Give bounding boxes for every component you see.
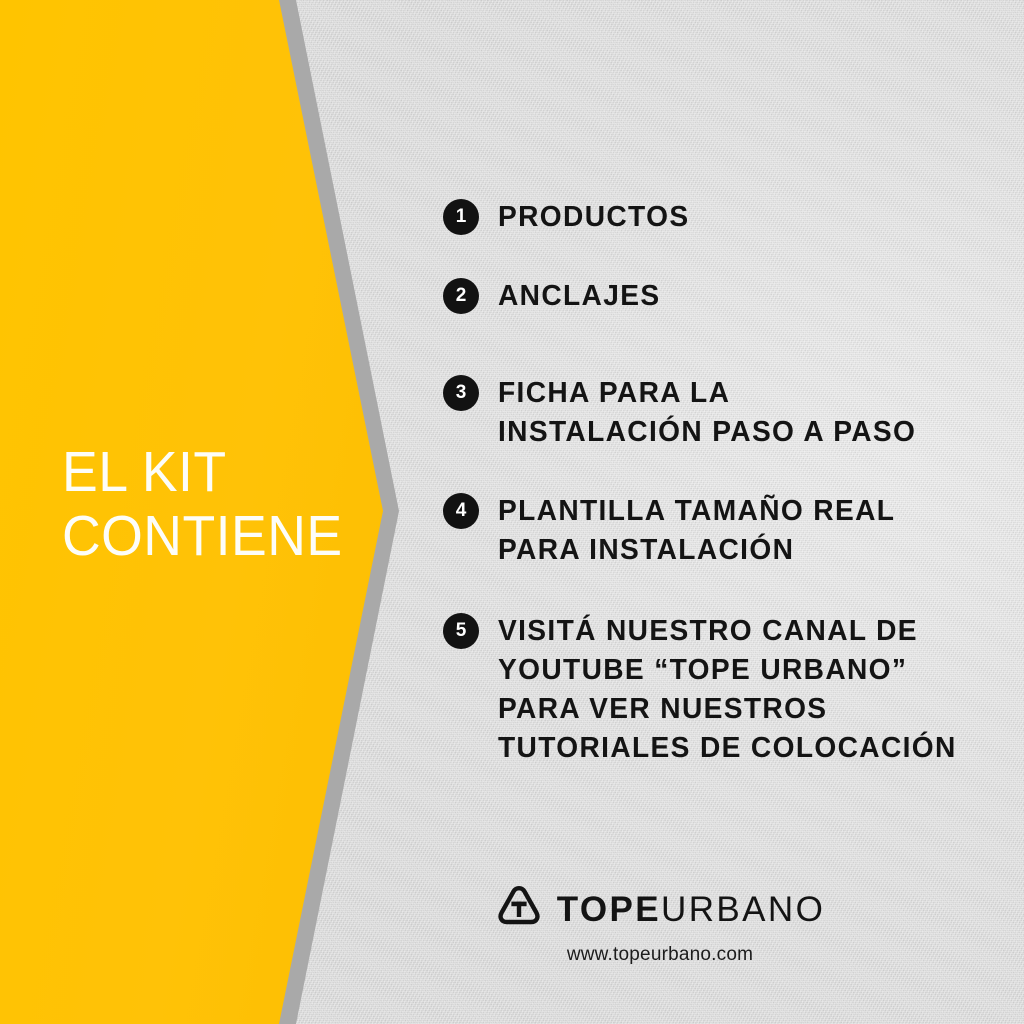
list-item: 3 FICHA PARA LA INSTALACIÓN PASO A PASO (443, 374, 983, 452)
poster-canvas: EL KIT CONTIENE 1 PRODUCTOS 2 ANCLAJES 3… (0, 0, 1024, 1024)
kit-contents-list: 1 PRODUCTOS 2 ANCLAJES 3 FICHA PARA LA I… (443, 198, 983, 768)
list-item: 4 PLANTILLA TAMAÑO REAL PARA INSTALACIÓN (443, 492, 983, 570)
list-number-badge: 5 (443, 613, 479, 649)
list-number-badge: 3 (443, 375, 479, 411)
list-item-label: ANCLAJES (498, 277, 660, 316)
list-item-label: PLANTILLA TAMAÑO REAL PARA INSTALACIÓN (498, 492, 895, 570)
logo-lockup: TOPEURBANO (495, 884, 825, 935)
list-item: 1 PRODUCTOS (443, 198, 983, 237)
list-item-label: FICHA PARA LA INSTALACIÓN PASO A PASO (498, 374, 916, 452)
list-item: 2 ANCLAJES (443, 277, 983, 316)
footer-branding: TOPEURBANO www.topeurbano.com (0, 884, 1024, 966)
list-number-badge: 1 (443, 199, 479, 235)
list-item-label: VISITÁ NUESTRO CANAL DE YOUTUBE “TOPE UR… (498, 612, 957, 768)
list-number-badge: 2 (443, 278, 479, 314)
rounded-triangle-logo-icon (495, 884, 543, 935)
website-url: www.topeurbano.com (567, 944, 753, 966)
logo-word-urbano: URBANO (661, 890, 825, 929)
logo-wordmark: TOPEURBANO (557, 892, 825, 927)
list-item: 5 VISITÁ NUESTRO CANAL DE YOUTUBE “TOPE … (443, 612, 983, 768)
page-title: EL KIT CONTIENE (62, 440, 344, 568)
list-number-badge: 4 (443, 493, 479, 529)
logo-word-tope: TOPE (557, 890, 661, 929)
list-item-label: PRODUCTOS (498, 198, 689, 237)
